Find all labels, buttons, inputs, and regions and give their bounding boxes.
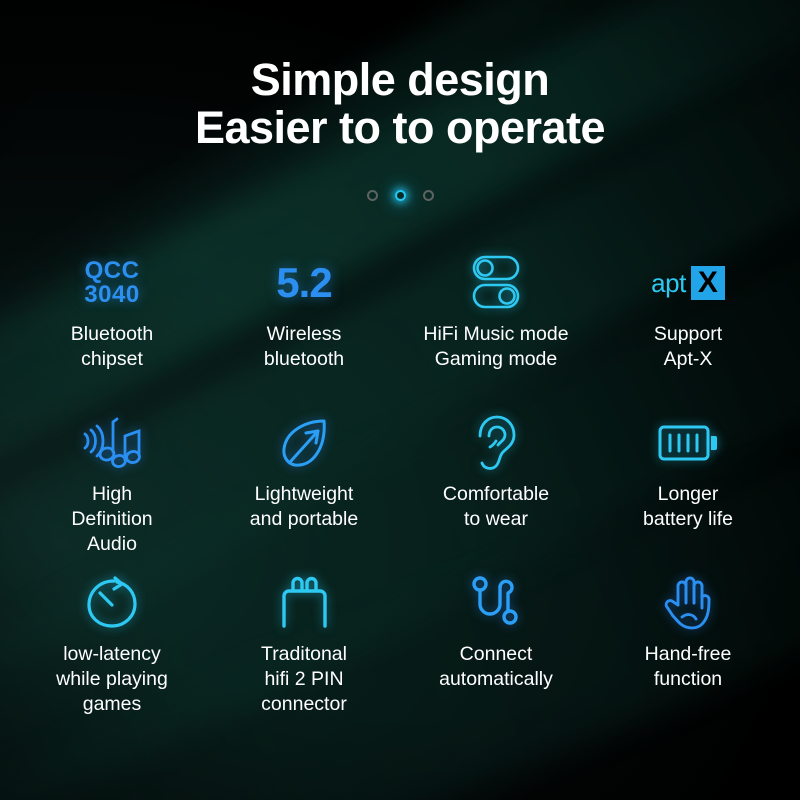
battery-icon xyxy=(657,412,719,474)
feature-caption: Longer battery life xyxy=(643,482,733,532)
leaf-icon xyxy=(276,412,332,474)
pagination-dot-3[interactable] xyxy=(423,190,434,201)
page-title: Simple design Easier to to operate xyxy=(0,56,800,151)
promo-banner: Simple design Easier to to operate QCC 3… xyxy=(0,0,800,800)
feature-caption: Wireless bluetooth xyxy=(264,322,344,372)
feature-item-two-pin-connector: Traditonal hifi 2 PIN connector xyxy=(208,568,400,728)
stopwatch-icon xyxy=(84,572,140,634)
feature-caption: HiFi Music mode Gaming mode xyxy=(423,322,568,372)
bluetooth-version-label: 5.2 xyxy=(276,262,331,304)
feature-item-low-latency: low-latency while playing games xyxy=(16,568,208,728)
feature-caption: Traditonal hifi 2 PIN connector xyxy=(261,642,347,717)
feature-caption: Lightweight and portable xyxy=(250,482,358,532)
qcc-label-line-1: QCC xyxy=(84,259,139,283)
aptx-logo-icon: apt X xyxy=(651,252,725,314)
dual-toggle-switch-icon xyxy=(468,252,524,314)
feature-item-hifi-gaming-mode: HiFi Music mode Gaming mode xyxy=(400,248,592,408)
pagination-dot-2-active[interactable] xyxy=(395,190,406,201)
headline-line-1: Simple design xyxy=(0,56,800,104)
feature-item-longer-battery-life: Longer battery life xyxy=(592,408,784,568)
ear-icon xyxy=(472,412,520,474)
feature-caption: Support Apt-X xyxy=(654,322,722,372)
headline-line-2: Easier to to operate xyxy=(0,104,800,152)
feature-item-comfortable-to-wear: Comfortable to wear xyxy=(400,408,592,568)
feature-grid: QCC 3040 Bluetooth chipset 5.2 Wireless … xyxy=(16,248,784,728)
feature-item-connect-automatically: Connect automatically xyxy=(400,568,592,728)
aptx-word-label: apt xyxy=(651,270,686,296)
aptx-mark-box: X xyxy=(691,266,725,300)
feature-caption: Connect automatically xyxy=(439,642,553,692)
feature-caption: low-latency while playing games xyxy=(56,642,168,717)
feature-caption: Bluetooth chipset xyxy=(71,322,153,372)
pagination-dot-1[interactable] xyxy=(367,190,378,201)
feature-caption: High Definition Audio xyxy=(71,482,152,557)
feature-item-bluetooth-chipset: QCC 3040 Bluetooth chipset xyxy=(16,248,208,408)
pagination-dots[interactable] xyxy=(0,190,800,201)
feature-caption: Hand-free function xyxy=(645,642,732,692)
bluetooth-version-icon: 5.2 xyxy=(276,252,331,314)
feature-item-wireless-bluetooth: 5.2 Wireless bluetooth xyxy=(208,248,400,408)
feature-item-lightweight-portable: Lightweight and portable xyxy=(208,408,400,568)
qcc-label-line-2: 3040 xyxy=(84,283,139,307)
music-notes-sound-icon xyxy=(81,412,143,474)
feature-item-high-definition-audio: High Definition Audio xyxy=(16,408,208,568)
feature-item-support-aptx: apt X Support Apt-X xyxy=(592,248,784,408)
two-pin-connector-icon xyxy=(275,572,333,634)
auto-connect-icon xyxy=(470,572,522,634)
feature-item-hand-free: Hand-free function xyxy=(592,568,784,728)
aptx-mark-label: X xyxy=(698,268,718,298)
feature-caption: Comfortable to wear xyxy=(443,482,549,532)
qcc-chipset-icon: QCC 3040 xyxy=(84,252,139,314)
hand-palm-icon xyxy=(661,572,715,634)
